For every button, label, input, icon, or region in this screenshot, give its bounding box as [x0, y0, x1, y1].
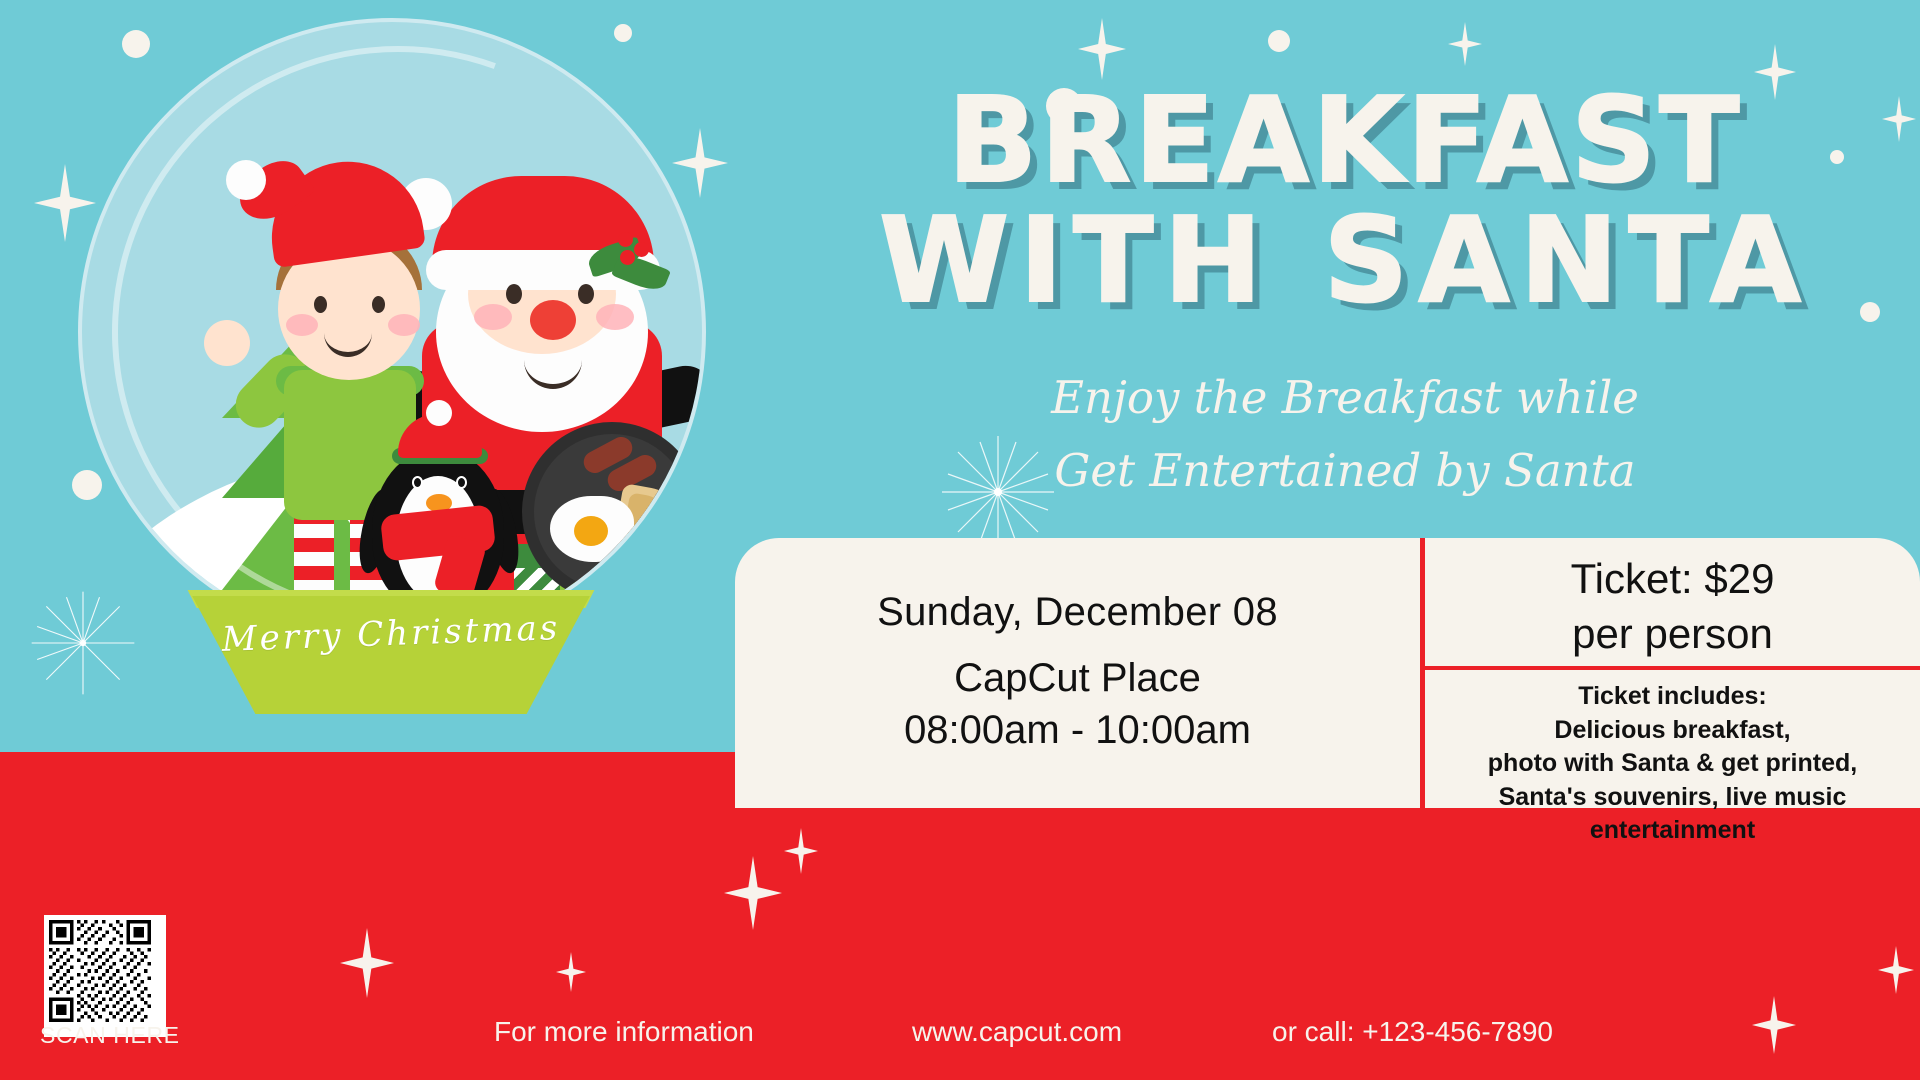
scan-here-label: SCAN HERE: [40, 1022, 180, 1049]
snow-globe-illustration: Merry Christmas: [60, 8, 720, 708]
event-venue: CapCut Place: [904, 653, 1251, 704]
phone-number[interactable]: or call: +123-456-7890: [1272, 1016, 1553, 1048]
flyer-canvas: Merry Christmas BREAKFAST WITH SANTA Enj…: [0, 0, 1920, 1080]
more-information-label: For more information: [494, 1016, 754, 1048]
card-horizontal-divider: [1425, 666, 1920, 670]
includes-heading: Ticket includes:: [1425, 680, 1920, 714]
event-details-card: Sunday, December 08 CapCut Place 08:00am…: [735, 538, 1420, 808]
event-date: Sunday, December 08: [877, 590, 1278, 635]
ticket-includes: Ticket includes: Delicious breakfast, ph…: [1425, 680, 1920, 848]
subtitle-line-2: Get Entertained by Santa: [770, 435, 1920, 508]
title-line-1: BREAKFAST: [947, 71, 1742, 209]
content-column: BREAKFAST WITH SANTA Enjoy the Breakfast…: [770, 0, 1920, 1080]
event-venue-time: CapCut Place 08:00am - 10:00am: [904, 653, 1251, 755]
subtitle-line-1: Enjoy the Breakfast while: [770, 362, 1920, 435]
includes-line: entertainment: [1425, 814, 1920, 848]
event-title: BREAKFAST WITH SANTA: [770, 80, 1920, 321]
includes-line: photo with Santa & get printed,: [1425, 747, 1920, 781]
ticket-price: Ticket: $29 per person: [1425, 552, 1920, 661]
event-subtitle: Enjoy the Breakfast while Get Entertaine…: [770, 362, 1920, 508]
qr-code[interactable]: [44, 915, 166, 1037]
title-line-2: WITH SANTA: [770, 200, 1920, 320]
globe-glass: [78, 18, 706, 646]
includes-line: Santa's souvenirs, live music: [1425, 781, 1920, 815]
includes-line: Delicious breakfast,: [1425, 714, 1920, 748]
info-cards: Sunday, December 08 CapCut Place 08:00am…: [735, 538, 1920, 808]
ticket-price-line-1: Ticket: $29: [1425, 552, 1920, 607]
event-time: 08:00am - 10:00am: [904, 705, 1251, 756]
website-link[interactable]: www.capcut.com: [912, 1016, 1122, 1048]
ticket-price-line-2: per person: [1425, 607, 1920, 662]
